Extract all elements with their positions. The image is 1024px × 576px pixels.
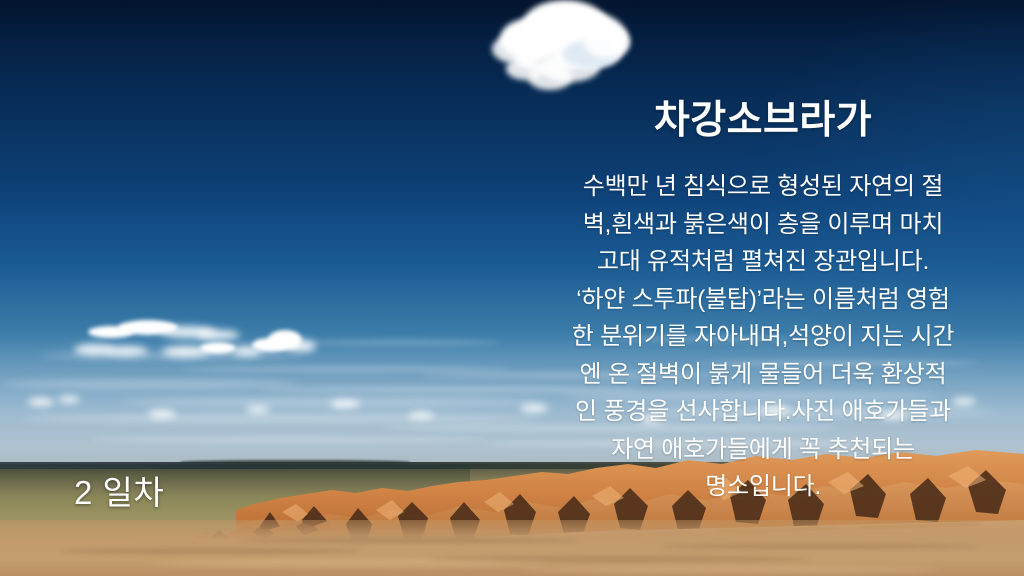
- presentation-slide: 차강소브라가 수백만 년 침식으로 형성된 자연의 절 벽,흰색과 붉은색이 층…: [0, 0, 1024, 576]
- day-label: 2 일차: [74, 466, 164, 514]
- cloud-puff-icon: [246, 406, 270, 413]
- body-line: 고대 유적처럼 펼쳐진 장관입니다.: [524, 243, 1002, 281]
- sand-ripple: [240, 538, 580, 543]
- cirrus-streak-icon: [0, 380, 300, 388]
- sand-highlight: [520, 566, 940, 573]
- body-line: 수백만 년 침식으로 형성된 자연의 절: [524, 168, 1002, 206]
- cirrus-streak-icon: [300, 340, 500, 345]
- body-line: 한 분위기를 자아내며,석양이 지는 시간: [524, 318, 1002, 356]
- body-line: 명소입니다.: [524, 468, 1002, 506]
- cirrus-streak-icon: [20, 414, 540, 423]
- body-line: ‘하얀 스투파(불탑)’라는 이름처럼 영험: [524, 281, 1002, 319]
- page-title: 차강소브라가: [524, 99, 1002, 144]
- slide-description: 수백만 년 침식으로 형성된 자연의 절 벽,흰색과 붉은색이 층을 이루며 마…: [524, 168, 1002, 506]
- cloud-puff-icon: [148, 410, 176, 418]
- cloud-puff-icon: [330, 400, 360, 408]
- sand-ripple: [60, 548, 360, 554]
- cloud-puff-icon: [58, 396, 80, 403]
- sand-highlight: [150, 560, 550, 567]
- cloud-puff-icon: [408, 412, 434, 419]
- body-line: 자연 애호가들에게 꼭 추천되는: [524, 431, 1002, 469]
- cirrus-streak-icon: [90, 436, 490, 443]
- body-line: 인 풍경을 선사합니다.사진 애호가들과: [524, 393, 1002, 431]
- sand-ripple: [660, 544, 980, 549]
- cirrus-streak-icon: [180, 366, 510, 372]
- cloud-puff-icon: [28, 398, 54, 406]
- body-line: 엔 온 절벽이 붉게 물들어 더욱 환상적: [524, 356, 1002, 394]
- cumulus-cloud-icon: [488, 0, 638, 101]
- body-line: 벽,흰색과 붉은색이 층을 이루며 마치: [524, 206, 1002, 244]
